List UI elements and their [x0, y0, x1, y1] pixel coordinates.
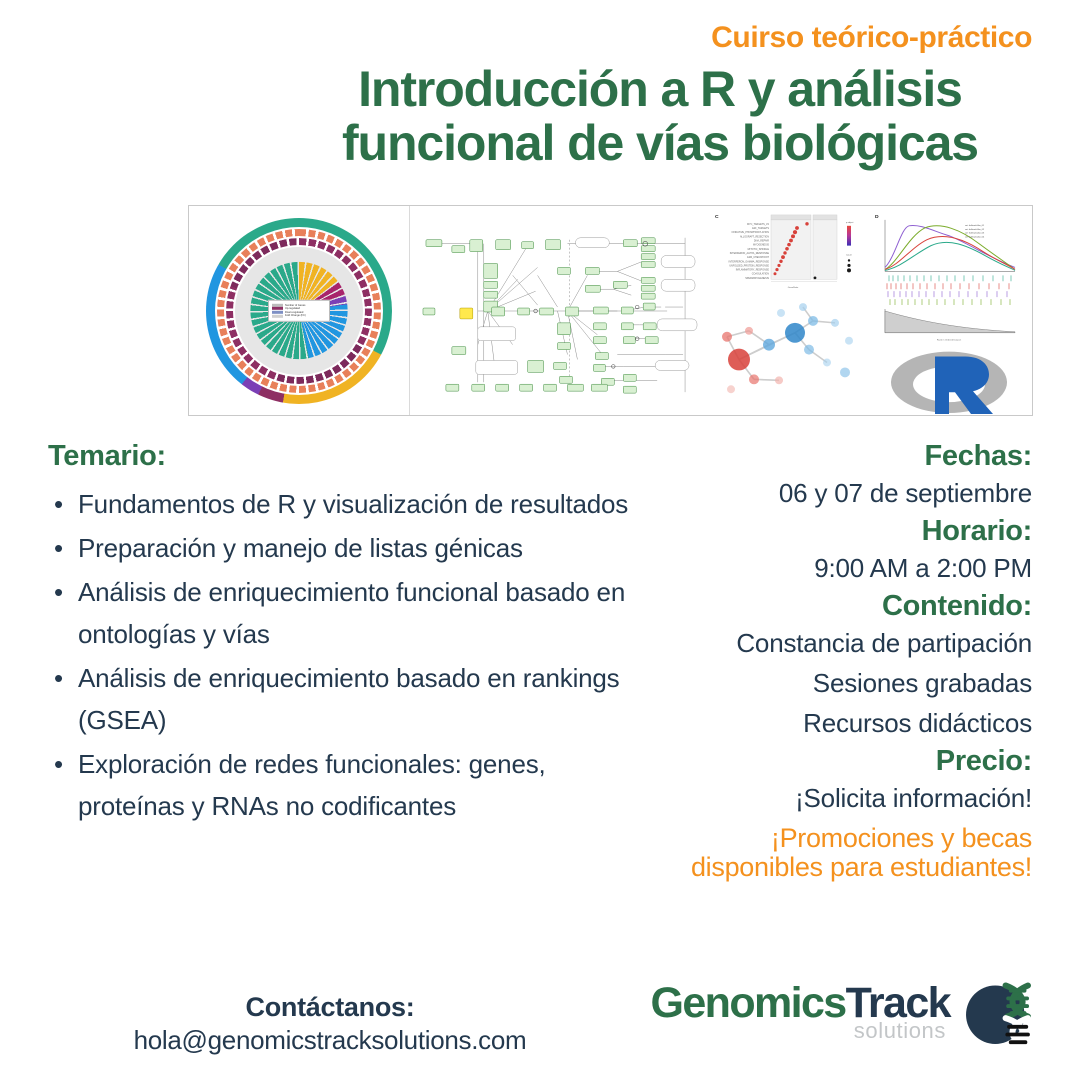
hero-image-banner: Number of Genes Up-regulated Down-regula…	[188, 205, 1033, 416]
schedule-label: Horario:	[648, 515, 1032, 548]
syllabus-list: Fundamentos de R y visualización de resu…	[48, 483, 648, 827]
svg-text:MITOTIC_SPINDLE: MITOTIC_SPINDLE	[748, 248, 770, 251]
price-block: Precio: ¡Solicita información!	[648, 745, 1032, 818]
svg-text:E2F_TARGETS: E2F_TARGETS	[752, 227, 769, 230]
list-item: Análisis de enriquecimiento basado en ra…	[48, 657, 648, 741]
svg-text:GeneRatio: GeneRatio	[788, 286, 799, 289]
kegg-svg	[418, 216, 701, 405]
dates-block: Fechas: 06 y 07 de septiembre	[648, 440, 1032, 513]
header: Cuirso teórico-práctico Introducción a R…	[0, 0, 1080, 170]
svg-text:INTERFERON_ALPHA_RESPONSE: INTERFERON_ALPHA_RESPONSE	[730, 252, 770, 255]
svg-text:G2M_CHECKPOINT: G2M_CHECKPOINT	[747, 256, 770, 259]
schedule-block: Horario: 9:00 AM a 2:00 PM	[648, 515, 1032, 588]
circle-legend: Number of Genes Up-regulated Down-regula…	[268, 299, 330, 321]
content-label: Contenido:	[648, 590, 1032, 623]
content-item: Sesiones grabadas	[648, 663, 1032, 703]
legend-label: Fold Change (FC)	[285, 314, 306, 318]
svg-text:Count: Count	[846, 254, 852, 257]
svg-text:INTERFERON_GAMMA_RESPONSE: INTERFERON_GAMMA_RESPONSE	[729, 260, 770, 263]
syllabus-heading: Temario:	[48, 440, 648, 473]
price-value: ¡Solicita información!	[648, 778, 1032, 818]
circular-enrichment-plot: Number of Genes Up-regulated Down-regula…	[189, 206, 409, 415]
course-kicker: Cuirso teórico-práctico	[48, 22, 1032, 54]
contact-label: Contáctanos:	[40, 992, 620, 1023]
content-columns: Temario: Fundamentos de R y visualizació…	[0, 440, 1080, 882]
svg-text:SPERMATOGENESIS: SPERMATOGENESIS	[745, 277, 769, 280]
price-label: Precio:	[648, 745, 1032, 778]
list-item: Fundamentos de R y visualización de resu…	[48, 483, 648, 525]
brand-name-part1: Genomics	[651, 979, 846, 1027]
footer: Contáctanos: hola@genomicstracksolutions…	[0, 970, 1080, 1056]
svg-text:OXIDATIVE_PHOSPHORYLATION: OXIDATIVE_PHOSPHORYLATION	[731, 231, 769, 234]
contact-email[interactable]: hola@genomicstracksolutions.com	[40, 1025, 620, 1056]
svg-text:COAGULATION: COAGULATION	[752, 273, 769, 276]
svg-text:ALLOGRAFT_REJECTION: ALLOGRAFT_REJECTION	[740, 235, 769, 238]
dates-label: Fechas:	[648, 440, 1032, 473]
gsea-svg: D set: hallmark-like_01 set: hallmark-li…	[869, 206, 1032, 415]
brand-logo: GenomicsTrack solutions	[620, 970, 1040, 1056]
dna-helix-icon	[954, 970, 1040, 1056]
svg-text:set: hallmark-like_03: set: hallmark-like_03	[965, 232, 985, 235]
content-block: Contenido: Constancia de partipación Ses…	[648, 590, 1032, 743]
r-language-logo	[891, 352, 1007, 414]
circos-rings: Number of Genes Up-regulated Down-regula…	[204, 216, 394, 406]
content-item: Recursos didácticos	[648, 703, 1032, 743]
page-title: Introducción a R y análisis funcional de…	[48, 62, 1032, 170]
kegg-canvas	[418, 216, 701, 405]
syllabus-column: Temario: Fundamentos de R y visualizació…	[48, 440, 648, 882]
schedule-value: 9:00 AM a 2:00 PM	[648, 548, 1032, 588]
svg-text:set: hallmark-like_01: set: hallmark-like_01	[965, 224, 985, 227]
dates-value: 06 y 07 de septiembre	[648, 473, 1032, 513]
dotplot-svg: C MYC_TARGETS_V2 E2F_TARGETS OXIDATIVE_P…	[709, 206, 869, 415]
svg-text:MYC_TARGETS_V2: MYC_TARGETS_V2	[747, 223, 770, 226]
svg-text:set: hallmark-like_02: set: hallmark-like_02	[965, 228, 985, 231]
svg-text:INFLAMMATORY_RESPONSE: INFLAMMATORY_RESPONSE	[736, 269, 770, 272]
svg-text:UNFOLDED_PROTEIN_RESPONSE: UNFOLDED_PROTEIN_RESPONSE	[729, 264, 769, 267]
svg-text:MYOGENESIS: MYOGENESIS	[753, 244, 769, 247]
panel-letter-d: D	[875, 214, 879, 220]
list-item: Exploración de redes funcionales: genes,…	[48, 743, 648, 827]
kegg-pathway-diagram	[409, 206, 709, 415]
list-item: Análisis de enriquecimiento funcional ba…	[48, 571, 648, 655]
gsea-enrichment-plot: D set: hallmark-like_01 set: hallmark-li…	[869, 206, 1032, 415]
panel-letter-c: C	[715, 214, 719, 220]
promo-text: ¡Promociones y becas disponibles para es…	[648, 824, 1032, 882]
details-column: Fechas: 06 y 07 de septiembre Horario: 9…	[648, 440, 1032, 882]
list-item: Preparación y manejo de listas génicas	[48, 527, 648, 569]
svg-text:set: hallmark-like_04: set: hallmark-like_04	[965, 236, 985, 239]
brand-wordmark: GenomicsTrack solutions	[651, 982, 950, 1044]
svg-text:p.adjust: p.adjust	[846, 221, 854, 224]
content-item: Constancia de partipación	[648, 623, 1032, 663]
functional-network	[722, 303, 853, 393]
legend-item: Fold Change (FC)	[272, 314, 326, 318]
contact-block: Contáctanos: hola@genomicstracksolutions…	[40, 992, 620, 1056]
svg-text:DNA_REPAIR: DNA_REPAIR	[754, 239, 769, 242]
svg-text:Rank in Ordered Dataset: Rank in Ordered Dataset	[937, 339, 962, 342]
gsea-dotplot-and-network: C MYC_TARGETS_V2 E2F_TARGETS OXIDATIVE_P…	[709, 206, 869, 415]
